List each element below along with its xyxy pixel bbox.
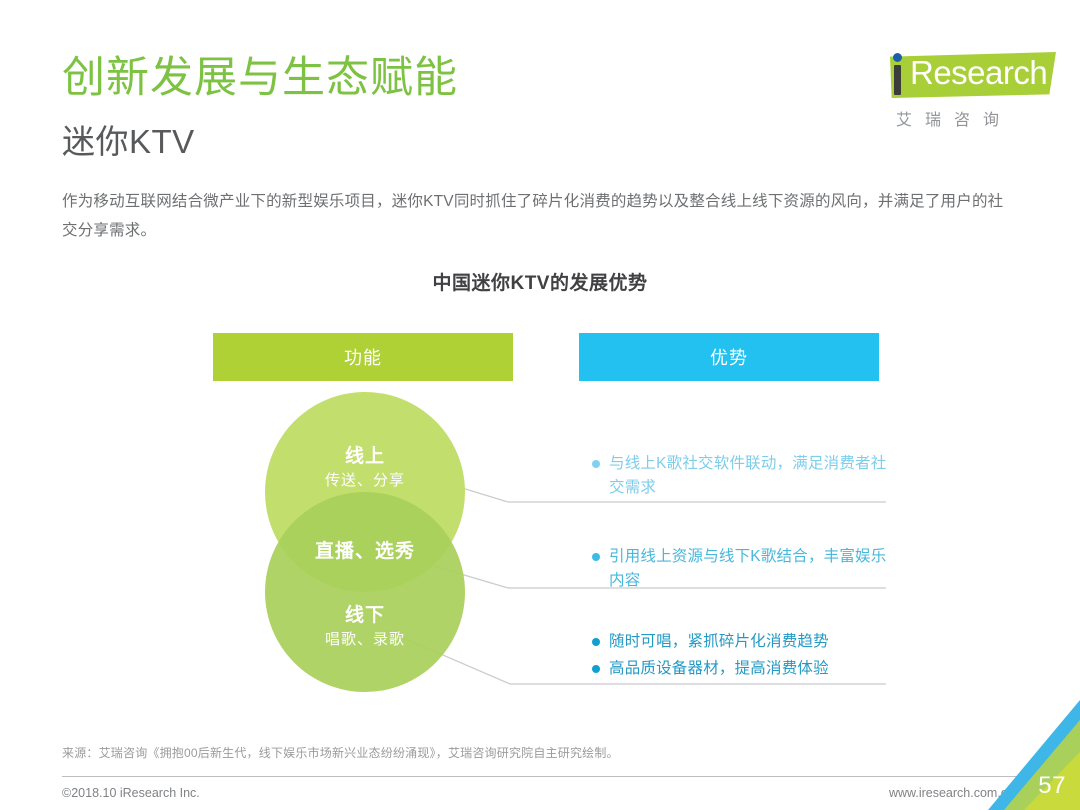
venn-online-subtitle: 传送、分享 xyxy=(265,470,465,491)
bullet-dot-icon xyxy=(592,460,600,468)
venn-label-overlap: 直播、选秀 xyxy=(265,536,465,563)
slide: 创新发展与生态赋能 迷你KTV 作为移动互联网结合微产业下的新型娱乐项目，迷你K… xyxy=(0,0,1080,810)
advantage-group-offline: 随时可唱，紧抓碎片化消费趋势 高品质设备器材，提高消费体验 xyxy=(592,630,892,684)
intro-paragraph: 作为移动互联网结合微产业下的新型娱乐项目，迷你KTV同时抓住了碎片化消费的趋势以… xyxy=(62,188,1014,245)
page-number: 57 xyxy=(1038,772,1066,800)
logo-i-dot xyxy=(893,53,902,62)
venn-online-title: 线上 xyxy=(265,445,465,470)
logo-wordmark: Research xyxy=(910,54,1047,92)
bullet-text: 随时可唱，紧抓碎片化消费趋势 xyxy=(609,630,829,654)
advantage-group-overlap: 引用线上资源与线下K歌结合，丰富娱乐内容 xyxy=(592,545,892,596)
venn-diagram: 线上 传送、分享 直播、选秀 线下 唱歌、录歌 xyxy=(265,392,465,692)
advantage-group-online: 与线上K歌社交软件联动，满足消费者社交需求 xyxy=(592,452,892,503)
footer-divider xyxy=(62,776,1018,777)
venn-offline-subtitle: 唱歌、录歌 xyxy=(265,629,465,650)
page-subtitle: 迷你KTV xyxy=(62,124,195,160)
venn-label-online: 线上 传送、分享 xyxy=(265,445,465,491)
bullet-dot-icon xyxy=(592,553,600,561)
logo-chinese-name: 艾瑞咨询 xyxy=(896,106,1012,130)
page-title: 创新发展与生态赋能 xyxy=(62,56,458,101)
venn-circle-offline xyxy=(265,492,465,692)
source-note: 来源：艾瑞咨询《拥抱00后新生代，线下娱乐市场新兴业态纷纷涌现》，艾瑞咨询研究院… xyxy=(62,744,619,761)
bullet-text: 与线上K歌社交软件联动，满足消费者社交需求 xyxy=(609,452,892,500)
bullet-item: 高品质设备器材，提高消费体验 xyxy=(592,657,892,681)
iresearch-logo: Research 艾瑞咨询 xyxy=(862,48,1062,136)
column-header-function: 功能 xyxy=(213,333,513,381)
bullet-text: 引用线上资源与线下K歌结合，丰富娱乐内容 xyxy=(609,545,892,593)
bullet-dot-icon xyxy=(592,638,600,646)
bullet-text: 高品质设备器材，提高消费体验 xyxy=(609,657,829,681)
venn-label-offline: 线下 唱歌、录歌 xyxy=(265,604,465,650)
bullet-dot-icon xyxy=(592,665,600,673)
logo-mark: Research xyxy=(862,48,1062,104)
logo-i-stem xyxy=(894,65,901,95)
bullet-item: 引用线上资源与线下K歌结合，丰富娱乐内容 xyxy=(592,545,892,593)
copyright-text: ©2018.10 iResearch Inc. xyxy=(62,786,200,800)
bullet-item: 随时可唱，紧抓碎片化消费趋势 xyxy=(592,630,892,654)
bullet-item: 与线上K歌社交软件联动，满足消费者社交需求 xyxy=(592,452,892,500)
chart-title: 中国迷你KTV的发展优势 xyxy=(0,268,1080,295)
venn-offline-title: 线下 xyxy=(265,604,465,629)
column-header-advantage: 优势 xyxy=(579,333,879,381)
